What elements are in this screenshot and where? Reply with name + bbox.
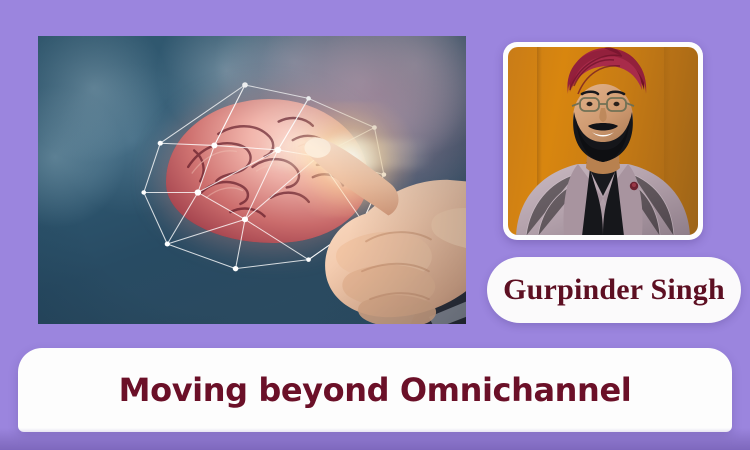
speaker-photo-card xyxy=(503,42,703,240)
speaker-name: Gurpinder Singh xyxy=(503,273,725,307)
speaker-name-badge: Gurpinder Singh xyxy=(487,257,741,323)
hero-image xyxy=(38,36,466,324)
poster-canvas: Gurpinder Singh Moving beyond Omnichanne… xyxy=(0,0,750,450)
speaker-portrait xyxy=(508,47,698,235)
page-title: Moving beyond Omnichannel xyxy=(119,371,632,409)
title-card: Moving beyond Omnichannel xyxy=(18,348,732,432)
hero-vignette xyxy=(38,36,466,324)
